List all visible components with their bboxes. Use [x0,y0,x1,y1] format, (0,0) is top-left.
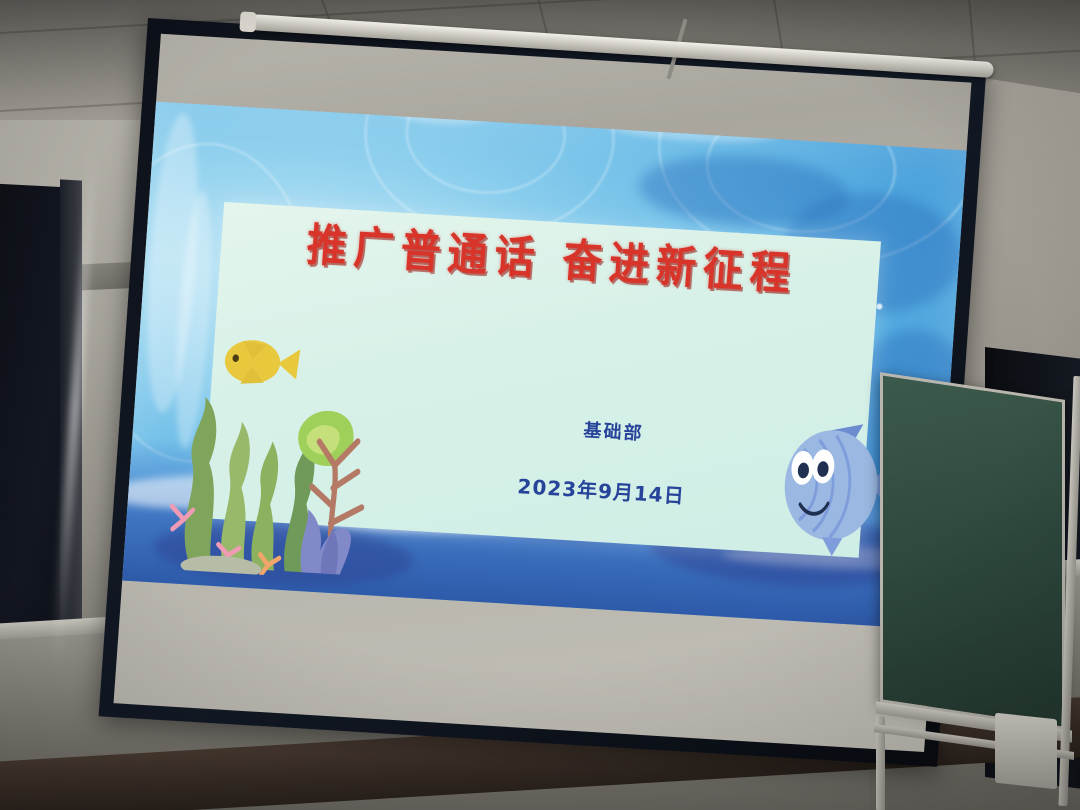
classroom-scene: 推广普通话 奋进新征程 基础部 2023年9月14日 [0,0,1080,810]
projector-screen: 推广普通话 奋进新征程 基础部 2023年9月14日 [100,0,930,760]
screen-roller-knob[interactable] [239,11,256,32]
screen-frame: 推广普通话 奋进新征程 基础部 2023年9月14日 [99,18,987,767]
screen-surface: 推广普通话 奋进新征程 基础部 2023年9月14日 [114,34,972,752]
projected-slide: 推广普通话 奋进新征程 基础部 2023年9月14日 [119,101,969,629]
seaweed-coral-cluster [161,329,390,581]
waste-bin [995,713,1057,790]
green-chalkboard [880,372,1065,730]
yellow-fish-icon [223,338,300,387]
green-chalkboard-assembly [880,386,1080,806]
